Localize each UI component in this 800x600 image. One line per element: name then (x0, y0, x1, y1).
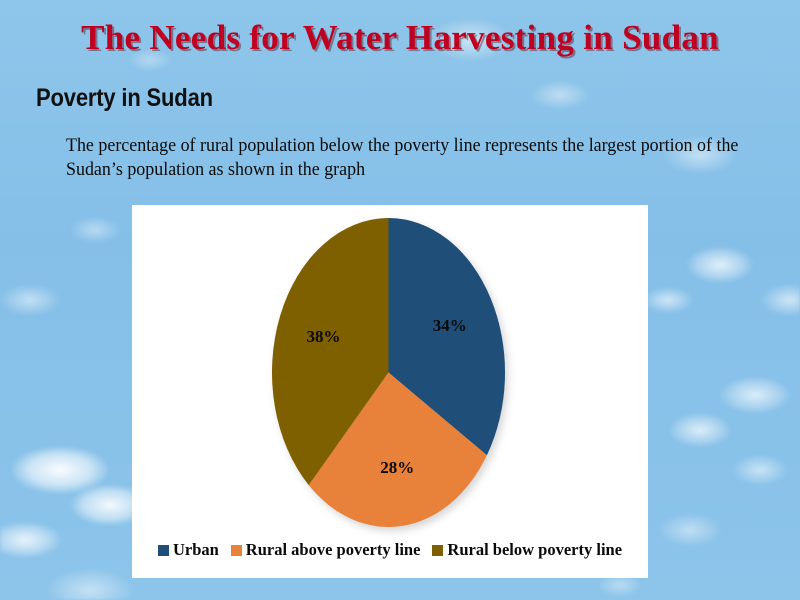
slice-label-rural-below: 38% (307, 327, 341, 347)
chart-panel: 34% 28% 38% Urban Rural above poverty li… (132, 205, 648, 578)
legend-item-label: Urban (173, 540, 219, 560)
page-title: The Needs for Water Harvesting in Sudan (0, 18, 800, 58)
legend-swatch-icon (158, 545, 169, 556)
legend-swatch-icon (231, 545, 242, 556)
legend-item[interactable]: Rural above poverty line (231, 540, 421, 560)
slice-label-rural-above: 28% (380, 458, 414, 478)
legend-item[interactable]: Urban (158, 540, 219, 560)
legend-item[interactable]: Rural below poverty line (432, 540, 622, 560)
pie-chart: 34% 28% 38% (272, 218, 505, 527)
slice-label-urban: 34% (433, 316, 467, 336)
legend-swatch-icon (432, 545, 443, 556)
pie-slices (272, 218, 505, 527)
chart-legend: Urban Rural above poverty line Rural bel… (132, 540, 648, 560)
body-paragraph: The percentage of rural population below… (66, 134, 757, 183)
legend-item-label: Rural above poverty line (246, 540, 421, 560)
slide: The Needs for Water Harvesting in Sudan … (0, 0, 800, 600)
section-heading: Poverty in Sudan (36, 84, 213, 113)
legend-item-label: Rural below poverty line (447, 540, 622, 560)
